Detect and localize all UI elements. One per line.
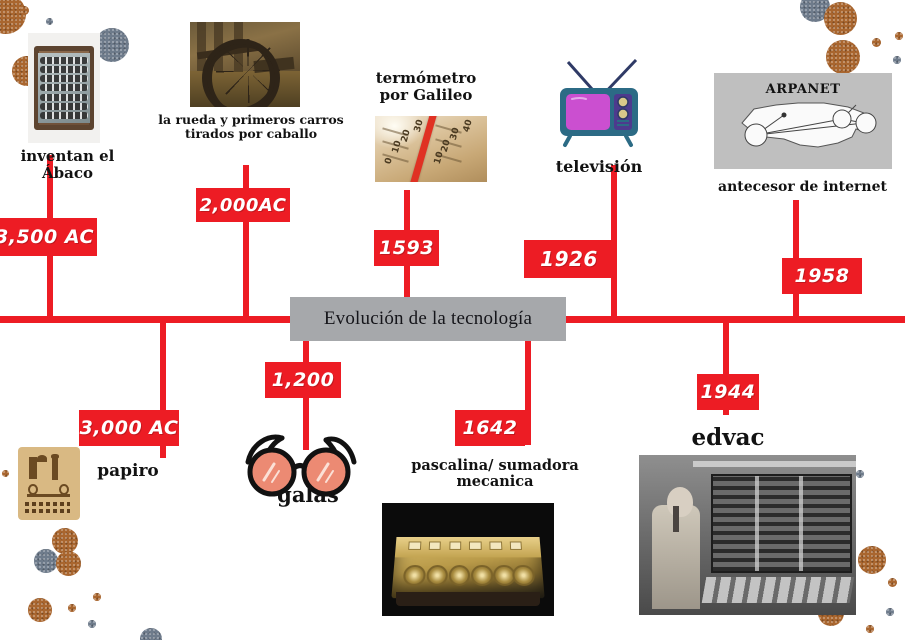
caption-gafas: galas <box>253 483 363 507</box>
decorative-dot <box>895 32 903 40</box>
caption-line: edvac <box>668 425 788 451</box>
caption-line: por Galileo <box>362 87 490 104</box>
image-pascaline-photo <box>382 503 554 616</box>
decorative-dot <box>893 56 901 64</box>
date-flag-1593[interactable]: 1593 <box>374 230 439 266</box>
caption-abaco: inventan el Ábaco <box>0 148 135 182</box>
caption-termometro: termómetro por Galileo <box>362 70 490 104</box>
decorative-dot <box>93 593 101 601</box>
image-abacus-photo <box>28 33 100 143</box>
decorative-dot <box>0 0 26 34</box>
decorative-dot <box>34 549 58 573</box>
caption-line: termómetro <box>362 70 490 87</box>
decorative-dot <box>2 470 9 477</box>
page-title: Evolución de la tecnología <box>290 297 566 341</box>
date-flag-3000-ac[interactable]: 3,000 AC <box>79 410 179 446</box>
caption-line: pascalina/ sumadora <box>390 458 600 474</box>
date-flag-1958[interactable]: 1958 <box>782 258 862 294</box>
decorative-dot <box>52 528 78 554</box>
date-flag-2000-ac[interactable]: 2,000AC <box>196 188 290 222</box>
caption-line: la rueda y primeros carros <box>158 113 344 127</box>
date-flag-1926[interactable]: 1926 <box>524 240 614 278</box>
image-cart-wheel-photo <box>190 22 300 107</box>
date-flag-1642[interactable]: 1642 <box>455 410 525 446</box>
decorative-dot <box>824 2 857 35</box>
caption-line: inventan el <box>0 148 135 165</box>
date-flag-1944[interactable]: 1944 <box>697 374 759 410</box>
decorative-dot <box>866 625 874 633</box>
caption-line: Ábaco <box>0 165 135 182</box>
caption-line: televisión <box>534 158 664 176</box>
image-thermometer-photo: 0 10 20 30 10 20 30 40 <box>375 116 487 182</box>
caption-line: papiro <box>78 462 178 481</box>
date-flag-3500-ac[interactable]: 3,500 AC <box>0 218 97 256</box>
caption-edvac: edvac <box>668 425 788 451</box>
caption-line: galas <box>253 483 363 507</box>
caption-line: mecanica <box>390 474 600 490</box>
infographic-canvas: inventan el Ábaco 3,500 AC la rueda y pr… <box>0 0 905 640</box>
decorative-dot <box>888 578 897 587</box>
date-flag-1200[interactable]: 1,200 <box>265 362 341 398</box>
caption-television: televisión <box>534 158 664 176</box>
caption-line: antecesor de internet <box>700 180 905 196</box>
decorative-dot <box>826 40 860 74</box>
decorative-dot <box>68 604 76 612</box>
decorative-dot <box>56 551 81 576</box>
decorative-dot <box>95 28 129 62</box>
image-arpanet-map: ARPANET <box>714 73 892 169</box>
decorative-dot <box>886 608 894 616</box>
decorative-dot <box>872 38 881 47</box>
image-edvac-photo <box>639 455 856 615</box>
decorative-dot <box>140 628 162 640</box>
decorative-dot <box>858 546 886 574</box>
decorative-dot <box>88 620 96 628</box>
caption-arpanet: antecesor de internet <box>700 180 905 196</box>
caption-pascalina: pascalina/ sumadora mecanica <box>390 458 600 490</box>
decorative-dot <box>856 470 864 478</box>
decorative-dot <box>28 598 52 622</box>
caption-line: tirados por caballo <box>158 127 344 141</box>
decorative-dot <box>20 6 29 15</box>
decorative-dot <box>46 18 53 25</box>
caption-papiro: papiro <box>78 462 178 481</box>
image-television-illustration <box>550 58 650 148</box>
caption-rueda: la rueda y primeros carros tirados por c… <box>158 113 344 141</box>
image-papyrus-photo <box>18 447 80 520</box>
